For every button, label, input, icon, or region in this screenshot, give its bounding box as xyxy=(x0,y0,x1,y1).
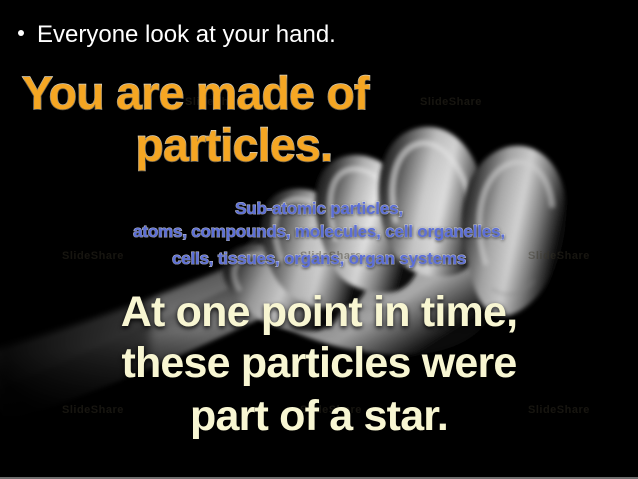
conclusion-line-3: part of a star. xyxy=(0,392,638,441)
detail-line-1: Sub-atomic particles, xyxy=(0,199,638,219)
slide-text-layer: Everyone look at your hand. You are made… xyxy=(0,0,638,477)
bullet-dot-icon xyxy=(18,30,24,36)
detail-line-3: cells, tissues, organs, organ systems xyxy=(0,249,638,269)
bullet-text: Everyone look at your hand. xyxy=(37,21,336,49)
slide-canvas: SlideShareSlideShareSlideShareSlideShare… xyxy=(0,0,638,479)
conclusion-line-2: these particles were xyxy=(0,339,638,388)
headline-line-1: You are made of xyxy=(0,66,638,120)
conclusion-line-1: At one point in time, xyxy=(0,288,638,337)
bullet-line: Everyone look at your hand. xyxy=(18,21,336,49)
headline-line-2: particles. xyxy=(0,118,638,172)
detail-line-2: atoms, compounds, molecules, cell organe… xyxy=(0,222,638,242)
